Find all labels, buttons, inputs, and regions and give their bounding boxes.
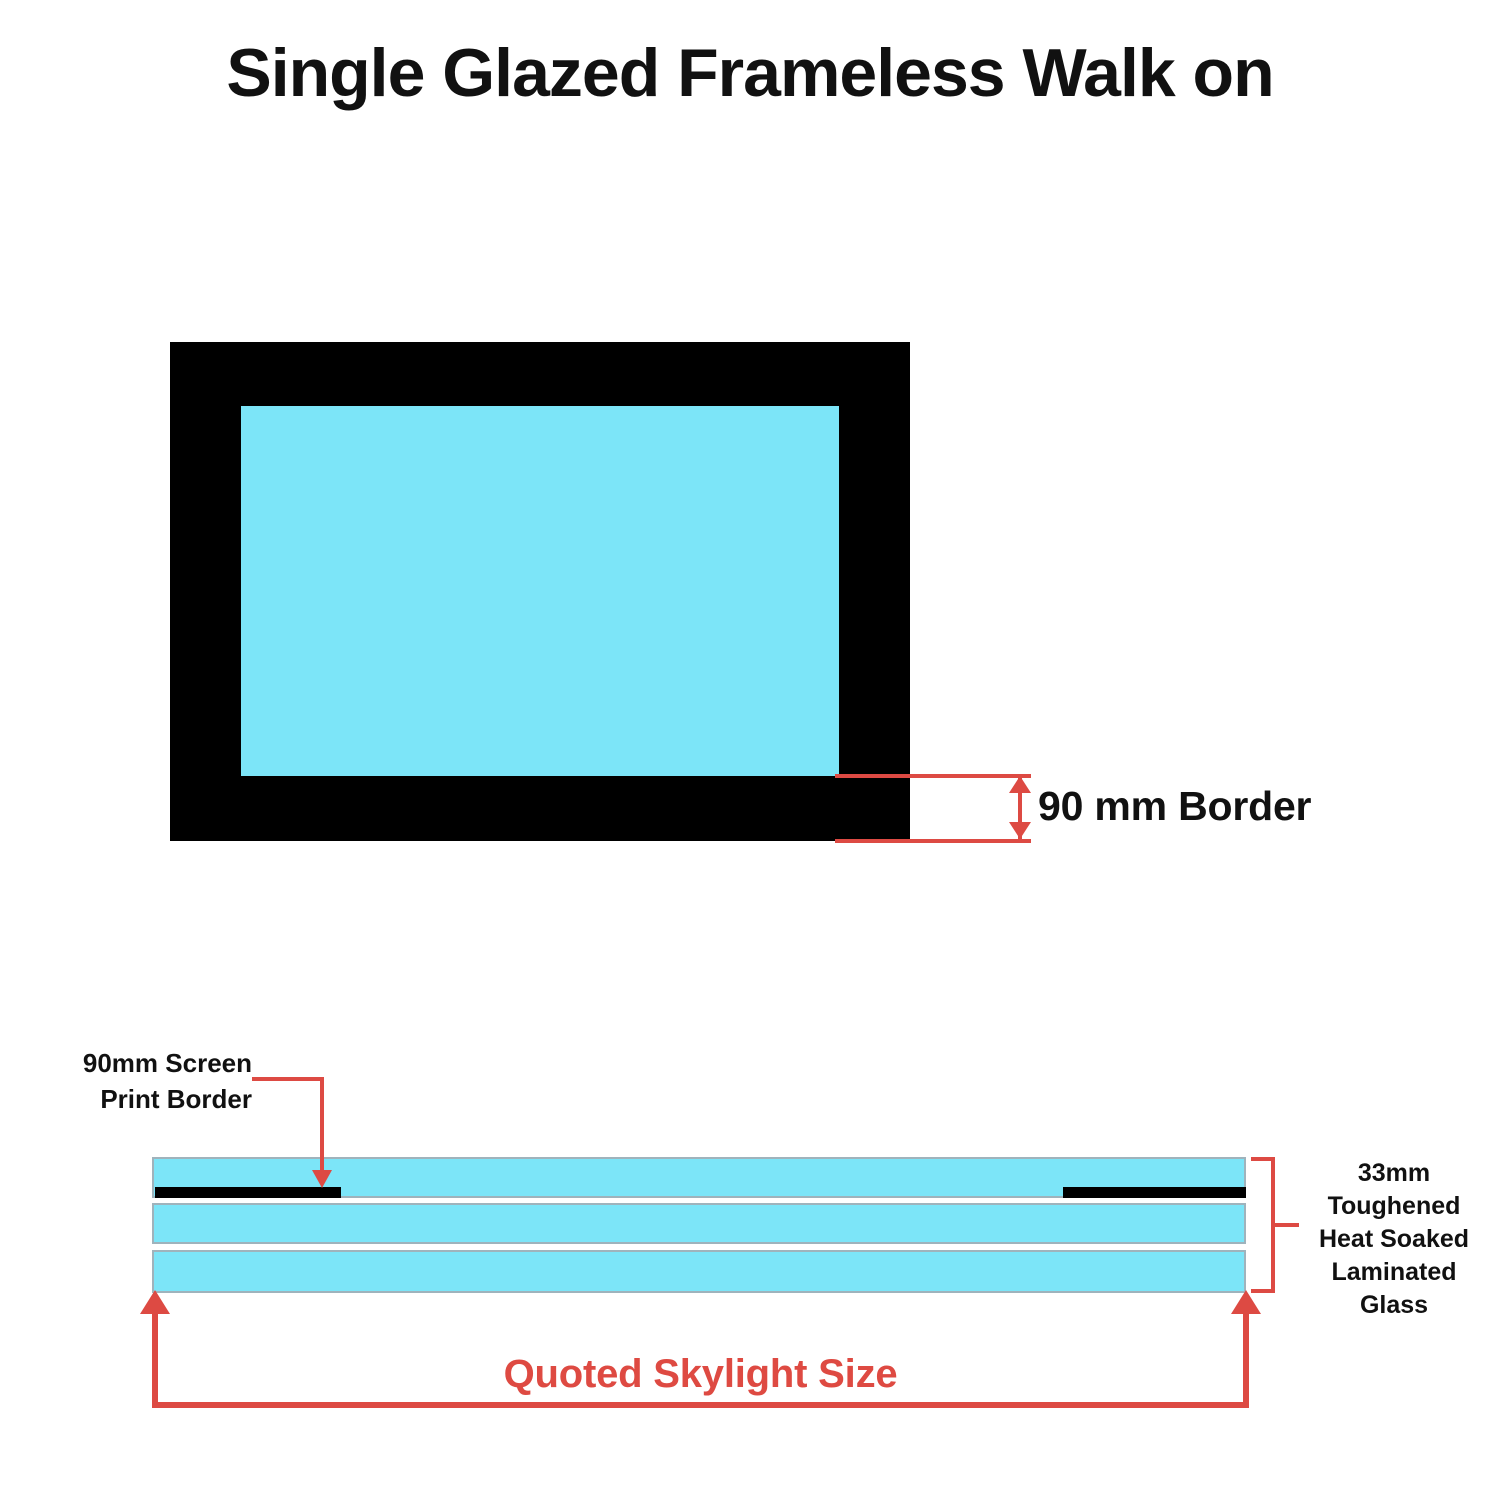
screen-print-leader-horizontal — [252, 1077, 324, 1081]
border-dimension-extension-line-top — [835, 774, 1031, 778]
border-dimension-label: 90 mm Border — [1038, 783, 1311, 830]
quoted-size-baseline — [152, 1402, 1249, 1408]
screen-print-border-left — [155, 1187, 341, 1198]
screen-print-label-line-1: 90mm Screen — [83, 1048, 252, 1078]
arrow-up-icon — [1231, 1290, 1261, 1314]
arrow-down-icon — [312, 1170, 332, 1188]
glass-thickness-bracket-tick — [1271, 1223, 1299, 1227]
arrow-up-icon — [1009, 776, 1031, 793]
diagram-canvas: Single Glazed Frameless Walk on 90 mm Bo… — [0, 0, 1500, 1500]
glass-spec-label: 33mmToughenedHeat SoakedLaminated Glass — [1296, 1157, 1492, 1322]
border-dimension-extension-line-bottom — [835, 839, 1031, 843]
plan-view-glass-area — [241, 406, 839, 776]
glass-spec-line-3: Heat Soaked — [1319, 1225, 1469, 1253]
arrow-up-icon — [140, 1290, 170, 1314]
screen-print-leader-vertical — [320, 1077, 324, 1176]
glass-spec-line-1: 33mm — [1358, 1159, 1430, 1187]
quoted-size-label: Quoted Skylight Size — [152, 1352, 1249, 1397]
glass-spec-line-2: Toughened — [1328, 1192, 1461, 1220]
glass-pane-middle — [152, 1203, 1246, 1244]
screen-print-label-line-2: Print Border — [100, 1084, 252, 1114]
screen-print-border-label: 90mm ScreenPrint Border — [30, 1046, 252, 1118]
glass-pane-bottom — [152, 1250, 1246, 1293]
page-title: Single Glazed Frameless Walk on — [0, 36, 1500, 111]
arrow-down-icon — [1009, 822, 1031, 839]
screen-print-border-right — [1063, 1187, 1246, 1198]
glass-spec-line-4: Laminated Glass — [1331, 1258, 1456, 1319]
